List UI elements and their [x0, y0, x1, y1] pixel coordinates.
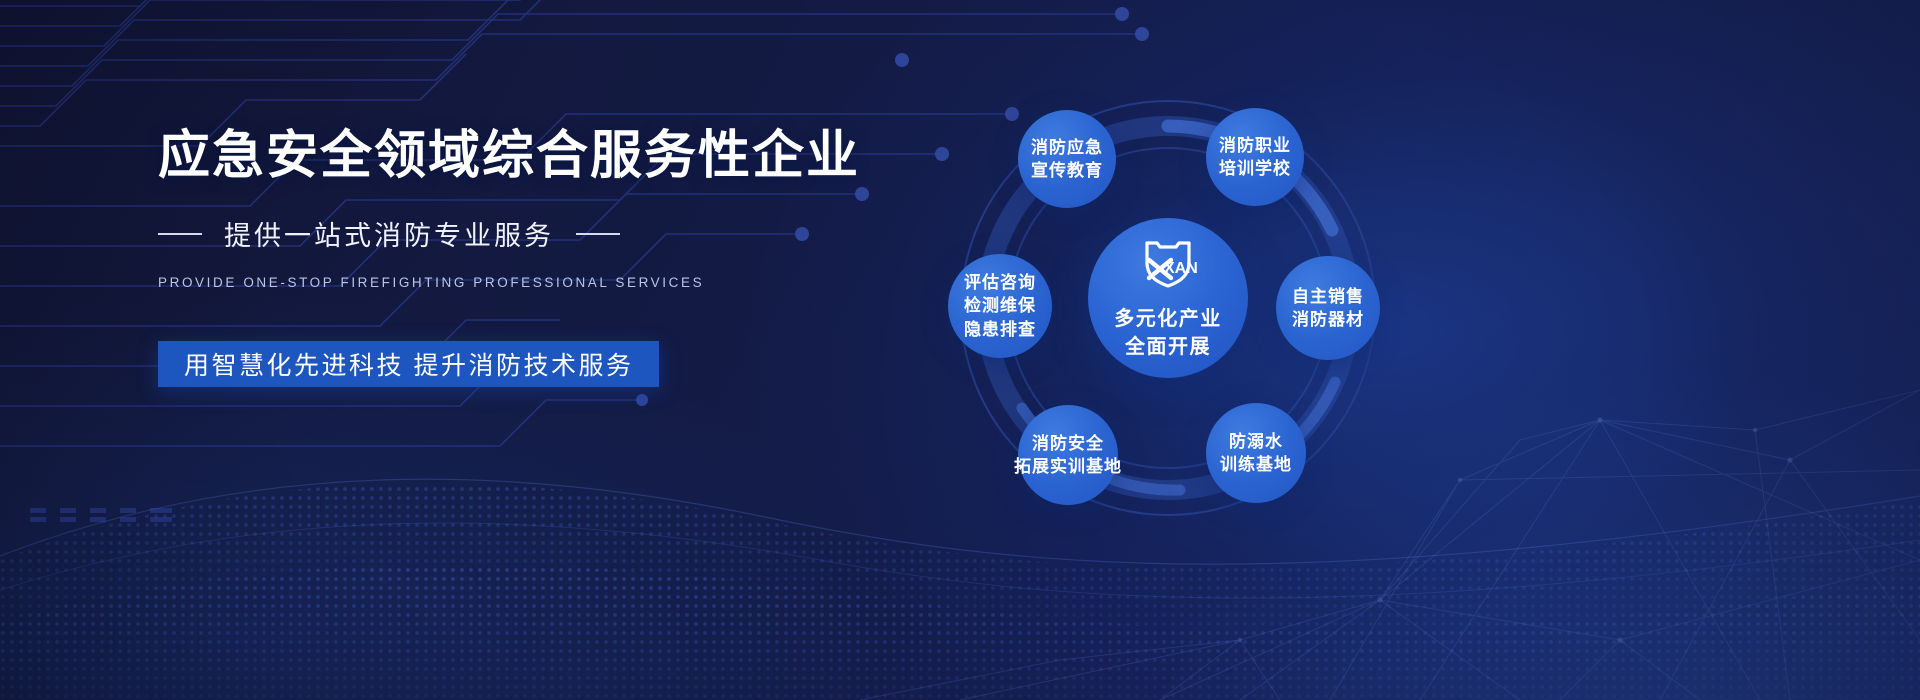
- cta-button[interactable]: 用智慧化先进科技 提升消防技术服务: [158, 341, 659, 387]
- rule-left-decoration: [158, 233, 202, 235]
- diagram-node-center[interactable]: XAN 多元化产业 全面开展: [1088, 218, 1248, 378]
- hero-text-block: 应急安全领域综合服务性企业 提供一站式消防专业服务 PROVIDE ONE-ST…: [158, 128, 918, 387]
- diagram-node-top-right[interactable]: 消防职业 培训学校: [1206, 108, 1304, 206]
- diagram-node-right[interactable]: 自主销售 消防器材: [1276, 256, 1380, 360]
- shield-xan-logo-icon: XAN: [1137, 235, 1199, 298]
- subheadline-row: 提供一站式消防专业服务: [158, 214, 918, 253]
- diagram-node-left[interactable]: 评估咨询 检测维保 隐患排查: [948, 254, 1052, 358]
- node-label-line2: 拓展实训基地: [1014, 455, 1122, 478]
- diagram-node-top-left[interactable]: 消防应急 宣传教育: [1018, 110, 1116, 208]
- logo-text: XAN: [1164, 260, 1198, 277]
- node-label-line2: 训练基地: [1220, 453, 1292, 476]
- node-label-line1: 自主销售: [1292, 285, 1364, 308]
- hero-banner: 应急安全领域综合服务性企业 提供一站式消防专业服务 PROVIDE ONE-ST…: [0, 0, 1920, 700]
- node-label-line1: 消防职业: [1219, 134, 1291, 157]
- diagram-node-bottom-right[interactable]: 防溺水 训练基地: [1206, 403, 1306, 503]
- node-label-line2: 消防器材: [1292, 308, 1364, 331]
- node-label-line2: 检测维保: [964, 294, 1036, 317]
- diagram-node-bottom-left[interactable]: 消防安全 拓展实训基地: [1018, 405, 1118, 505]
- node-label-line2: 培训学校: [1219, 157, 1291, 180]
- english-tagline: PROVIDE ONE-STOP FIREFIGHTING PROFESSION…: [158, 275, 918, 290]
- node-label-line1: 消防安全: [1032, 432, 1104, 455]
- subheadline: 提供一站式消防专业服务: [224, 214, 554, 253]
- center-label-line1: 多元化产业: [1114, 305, 1222, 333]
- node-label-line1: 消防应急: [1031, 136, 1103, 159]
- node-label-line2: 宣传教育: [1031, 159, 1103, 182]
- page-title: 应急安全领域综合服务性企业: [158, 128, 918, 184]
- rule-right-decoration: [576, 233, 620, 235]
- cta-button-label: 用智慧化先进科技 提升消防技术服务: [184, 346, 633, 382]
- node-label-line1: 防溺水: [1229, 430, 1283, 453]
- business-scope-diagram: 消防应急 宣传教育 消防职业 培训学校 评估咨询 检测维保 隐患排查 自主销售 …: [930, 60, 1790, 640]
- center-label-line2: 全面开展: [1125, 333, 1211, 361]
- node-label-line1: 评估咨询: [964, 271, 1036, 294]
- node-label-line3: 隐患排查: [964, 318, 1036, 341]
